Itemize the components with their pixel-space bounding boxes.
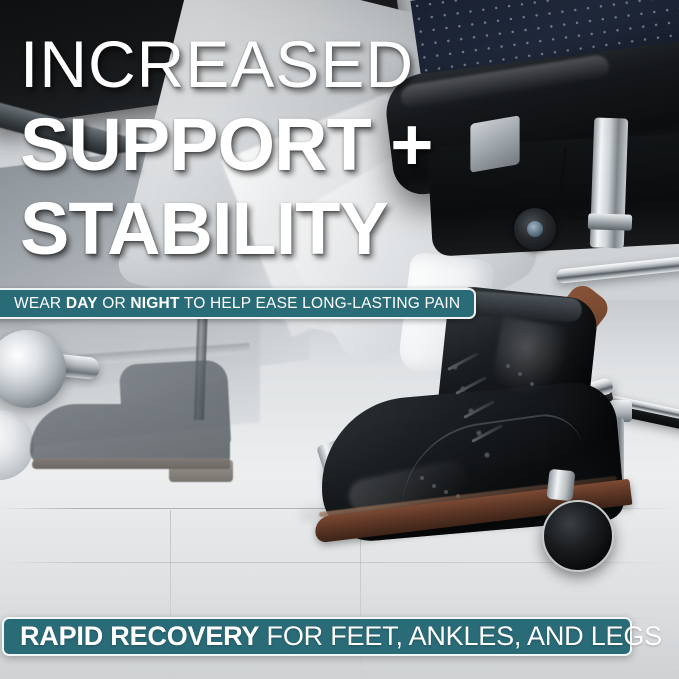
chair-cylinder-band [588,213,633,231]
boot-vamp [30,404,230,466]
boot-sole [32,458,230,469]
caster-wheel [542,500,614,572]
subtitle-banner: WEAR DAY OR NIGHT TO HELP EASE LONG-LAST… [0,288,476,319]
bottom-banner-text: RAPID RECOVERY FOR FEET, ANKLES, AND LEG… [20,621,662,652]
boot-brogue-perforation [518,372,522,376]
subtitle-prefix: WEAR [14,295,66,312]
chair-tension-knob [514,208,556,250]
background-boot [30,370,245,485]
bottom-banner-rest: FOR FEET, ANKLES, AND LEGS [259,621,662,651]
subtitle-bold-night: NIGHT [130,295,179,312]
subtitle-bold-day: DAY [66,295,98,312]
boot-brogue-perforation [530,382,534,386]
product-photo [0,0,679,679]
bottom-banner: RAPID RECOVERY FOR FEET, ANKLES, AND LEG… [2,617,632,656]
chair-base-arm [556,254,679,284]
boot-brogue-perforation [432,484,436,488]
boot-brogue-perforation [444,490,448,494]
boot-brogue-perforation [420,476,424,480]
product-marketing-image: INCREASED SUPPORT + STABILITY WEAR DAY O… [0,0,679,679]
boot-eyelet [484,452,490,458]
chair-mechanism-plate [470,115,519,172]
boot-highlight [490,316,572,401]
subtitle-suffix: TO HELP EASE LONG-LASTING PAIN [180,295,461,312]
subtitle-banner-text: WEAR DAY OR NIGHT TO HELP EASE LONG-LAST… [14,295,460,313]
bottom-banner-bold: RAPID RECOVERY [20,621,259,651]
caster-stem [547,469,576,502]
boot-brogue-perforation [506,364,510,368]
subtitle-mid: OR [98,295,131,312]
